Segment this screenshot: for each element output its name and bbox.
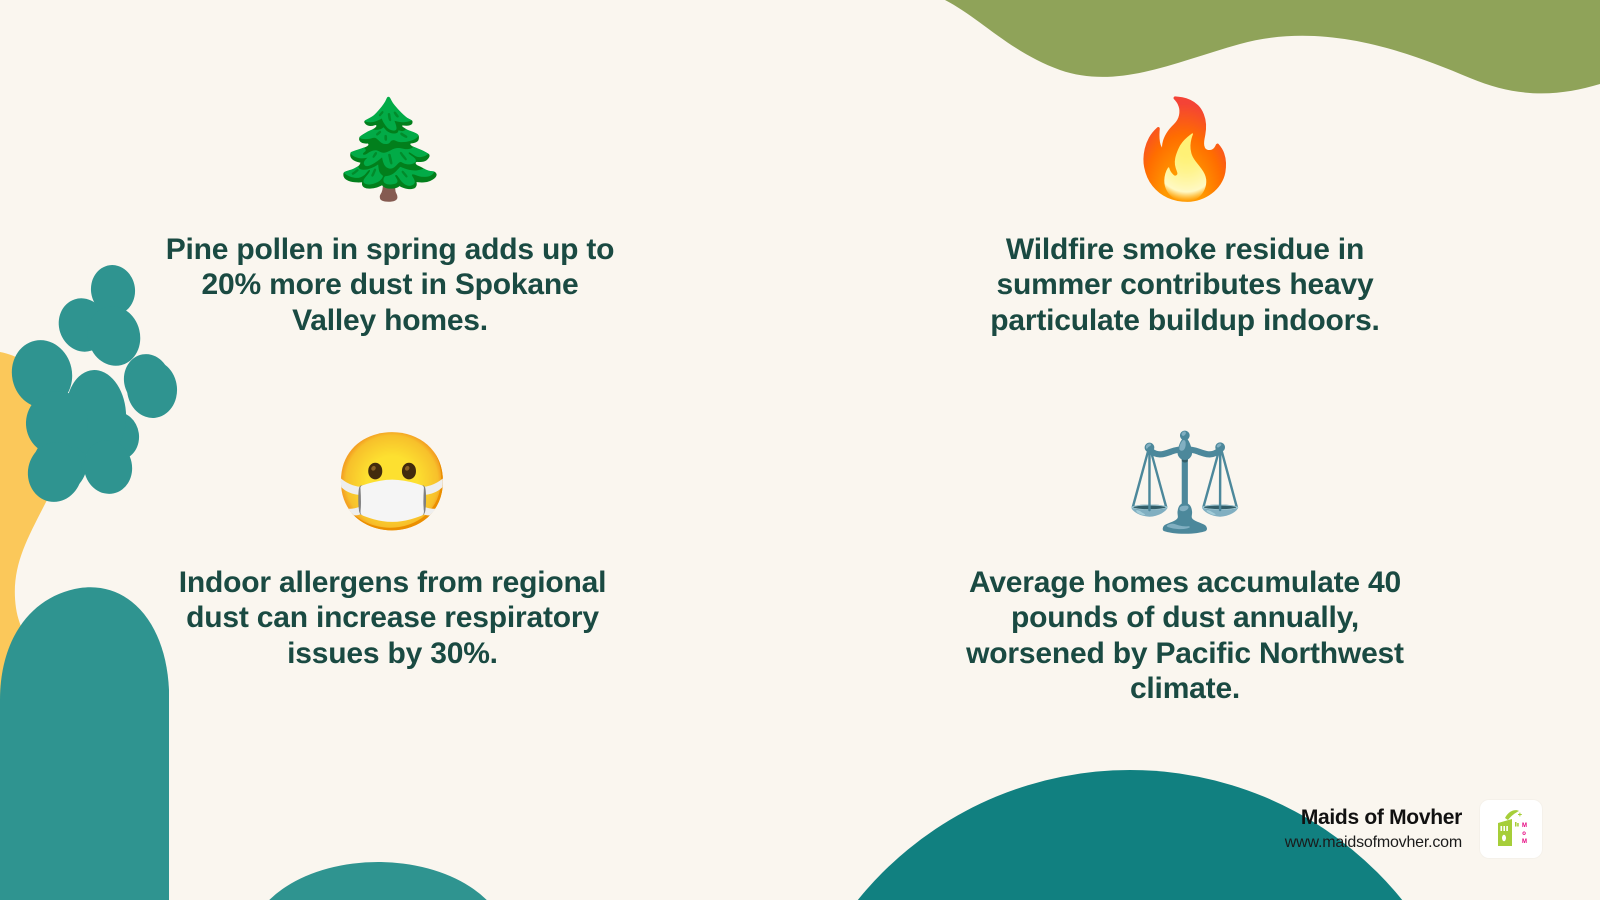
logo-window-3 xyxy=(1506,826,1508,831)
fact-text-wildfire-smoke: Wildfire smoke residue in summer contrib… xyxy=(960,232,1410,338)
logo-leaf-shape xyxy=(1505,810,1519,820)
logo-initial-m1: M xyxy=(1522,823,1527,829)
fact-card-indoor-allergens: 😷 Indoor allergens from regional dust ca… xyxy=(170,425,615,671)
logo-initial-m2: M xyxy=(1522,839,1527,845)
logo-initial-o: o xyxy=(1522,831,1526,837)
logo-door xyxy=(1502,835,1506,841)
brand-website-url[interactable]: www.maidsofmovher.com xyxy=(1285,834,1462,852)
fire-icon: 🔥 xyxy=(1125,92,1245,208)
fact-card-dust-annual: ⚖️ Average homes accumulate 40 pounds of… xyxy=(960,425,1410,707)
logo-building-shape xyxy=(1498,819,1512,846)
fact-text-indoor-allergens: Indoor allergens from regional dust can … xyxy=(170,565,615,671)
evergreen-tree-icon: 🌲 xyxy=(330,92,450,208)
maids-of-movher-logo: M o M xyxy=(1480,800,1542,858)
logo-sparkle-icon xyxy=(1518,813,1522,817)
fact-text-dust-annual: Average homes accumulate 40 pounds of du… xyxy=(960,565,1410,707)
brand-text-block: Maids of Movher www.maidsofmovher.com xyxy=(1285,806,1462,852)
face-with-medical-mask-icon: 😷 xyxy=(333,425,453,541)
logo-window-2 xyxy=(1503,826,1505,831)
footer-branding: Maids of Movher www.maidsofmovher.com M … xyxy=(1285,800,1542,858)
fact-text-pine-pollen: Pine pollen in spring adds up to 20% mor… xyxy=(160,232,620,338)
brand-name: Maids of Movher xyxy=(1301,806,1462,830)
fact-card-wildfire-smoke: 🔥 Wildfire smoke residue in summer contr… xyxy=(960,92,1410,338)
logo-bar-2 xyxy=(1517,823,1519,827)
balance-scale-icon: ⚖️ xyxy=(1125,425,1245,541)
fact-card-pine-pollen: 🌲 Pine pollen in spring adds up to 20% m… xyxy=(160,92,620,338)
logo-window-1 xyxy=(1501,826,1503,831)
infographic-content: 🌲 Pine pollen in spring adds up to 20% m… xyxy=(0,0,1600,900)
logo-bar-1 xyxy=(1515,822,1517,827)
